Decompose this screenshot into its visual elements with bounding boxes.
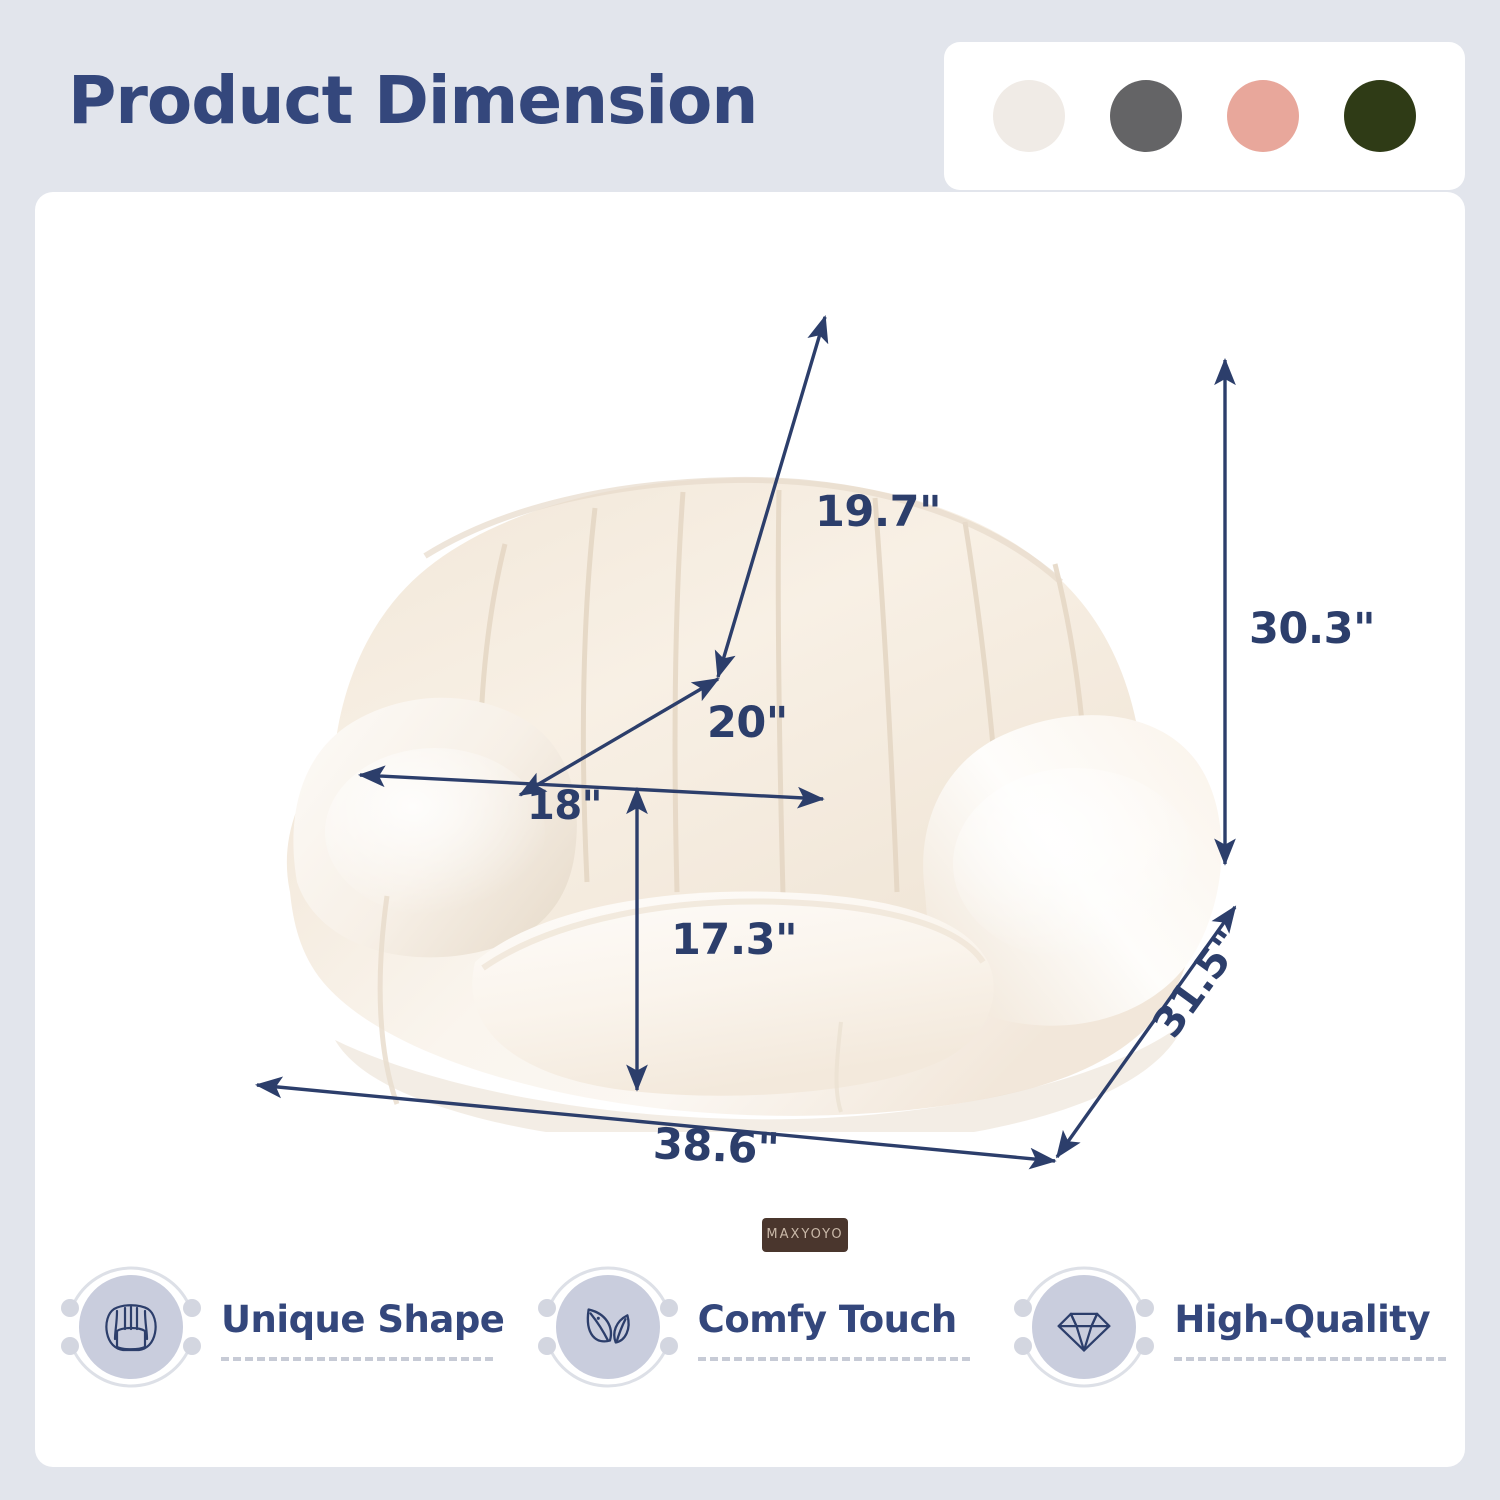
infographic-page: Product Dimension xyxy=(0,0,1500,1500)
feature-disc xyxy=(1032,1275,1136,1379)
dim-label-overall-height: 30.3" xyxy=(1249,604,1375,654)
swatch-dusty-pink[interactable] xyxy=(1227,80,1299,152)
feature-divider xyxy=(221,1357,493,1361)
leaves-icon xyxy=(577,1296,639,1358)
feature-disc xyxy=(79,1275,183,1379)
swatch-ivory[interactable] xyxy=(993,80,1065,152)
dim-label-seat-depth: 20" xyxy=(707,698,788,748)
feature-text: High-Quality xyxy=(1174,1294,1446,1361)
feature-high-quality[interactable]: High-Quality xyxy=(988,1253,1465,1401)
product-card: MAXYOYO xyxy=(35,192,1465,1467)
feature-icon-wrap xyxy=(57,1253,205,1401)
dimension-arrows xyxy=(35,192,1465,1202)
arrow-seat-depth xyxy=(520,679,718,795)
dim-label-backrest-height: 19.7" xyxy=(815,487,941,537)
feature-badges: Unique Shape xyxy=(35,1212,1465,1442)
feature-comfy-touch[interactable]: Comfy Touch xyxy=(512,1253,989,1401)
dim-label-seat-width: 18" xyxy=(527,783,602,829)
arrow-backrest-height xyxy=(718,317,825,677)
feature-label: Unique Shape xyxy=(221,1298,504,1341)
page-title: Product Dimension xyxy=(68,62,757,139)
feature-divider xyxy=(1174,1357,1446,1361)
feature-text: Comfy Touch xyxy=(698,1294,970,1361)
dim-label-overall-width: 38.6" xyxy=(652,1119,780,1174)
swatch-dark-olive[interactable] xyxy=(1344,80,1416,152)
feature-divider xyxy=(698,1357,970,1361)
feature-label: High-Quality xyxy=(1174,1298,1446,1341)
dim-label-seat-height: 17.3" xyxy=(671,915,797,965)
diamond-icon xyxy=(1054,1297,1114,1357)
feature-disc xyxy=(556,1275,660,1379)
feature-text: Unique Shape xyxy=(221,1294,504,1361)
chair-icon xyxy=(99,1295,163,1359)
feature-icon-wrap xyxy=(1010,1253,1158,1401)
color-swatch-panel xyxy=(944,42,1465,190)
feature-unique-shape[interactable]: Unique Shape xyxy=(35,1253,512,1401)
feature-icon-wrap xyxy=(534,1253,682,1401)
swatch-dark-gray[interactable] xyxy=(1110,80,1182,152)
feature-label: Comfy Touch xyxy=(698,1298,970,1341)
